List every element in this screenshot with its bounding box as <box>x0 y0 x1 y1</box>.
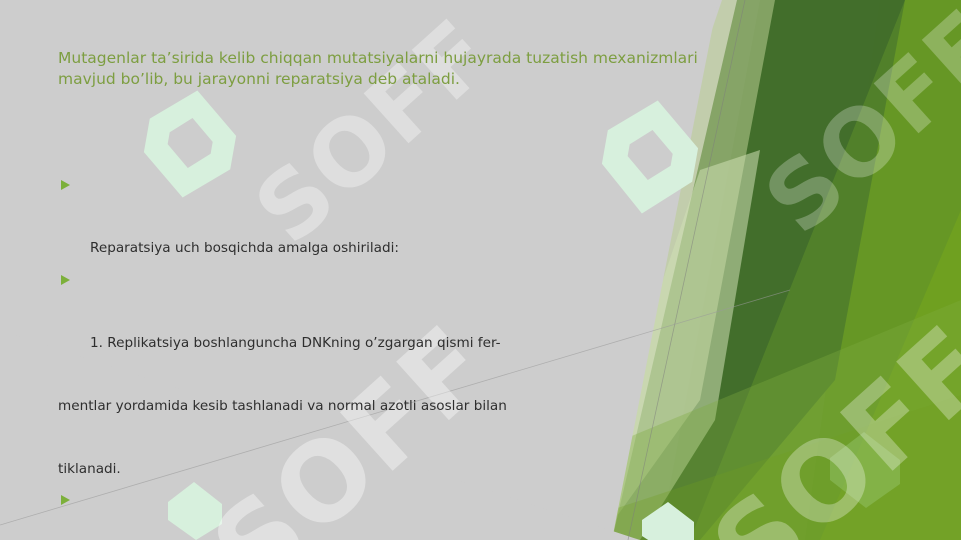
presentation-slide: SOFF SOFF SOFF SOFF Mutagenlar ta’sirida… <box>0 0 961 540</box>
body-paragraph: mentlar yordamida kesib tashlanadi va no… <box>58 359 698 422</box>
body-paragraph: tiklanadi. <box>58 422 698 485</box>
body-paragraph: Reparatsiya uch bosqichda amalga oshiril… <box>58 170 698 265</box>
paragraph-text: mentlar yordamida kesib tashlanadi va no… <box>58 398 507 414</box>
body-paragraph: 1. Replikatsiya boshlanguncha DNKning o’… <box>58 265 698 360</box>
body-paragraph: 2. Replikatsiya jarayonida yuqoridagi o’… <box>58 485 698 540</box>
triangle-bullet-icon <box>61 495 70 505</box>
paragraph-text: tiklanadi. <box>58 461 121 477</box>
paragraph-text: 1. Replikatsiya boshlanguncha DNKning o’… <box>90 335 501 351</box>
slide-title: Mutagenlar ta’sirida kelib chiqqan mutat… <box>58 48 713 90</box>
triangle-bullet-icon <box>61 180 70 190</box>
slide-content: Mutagenlar ta’sirida kelib chiqqan mutat… <box>0 0 961 540</box>
paragraph-text: Reparatsiya uch bosqichda amalga oshiril… <box>90 240 399 256</box>
triangle-bullet-icon <box>61 275 70 285</box>
slide-body: Reparatsiya uch bosqichda amalga oshiril… <box>58 170 698 540</box>
